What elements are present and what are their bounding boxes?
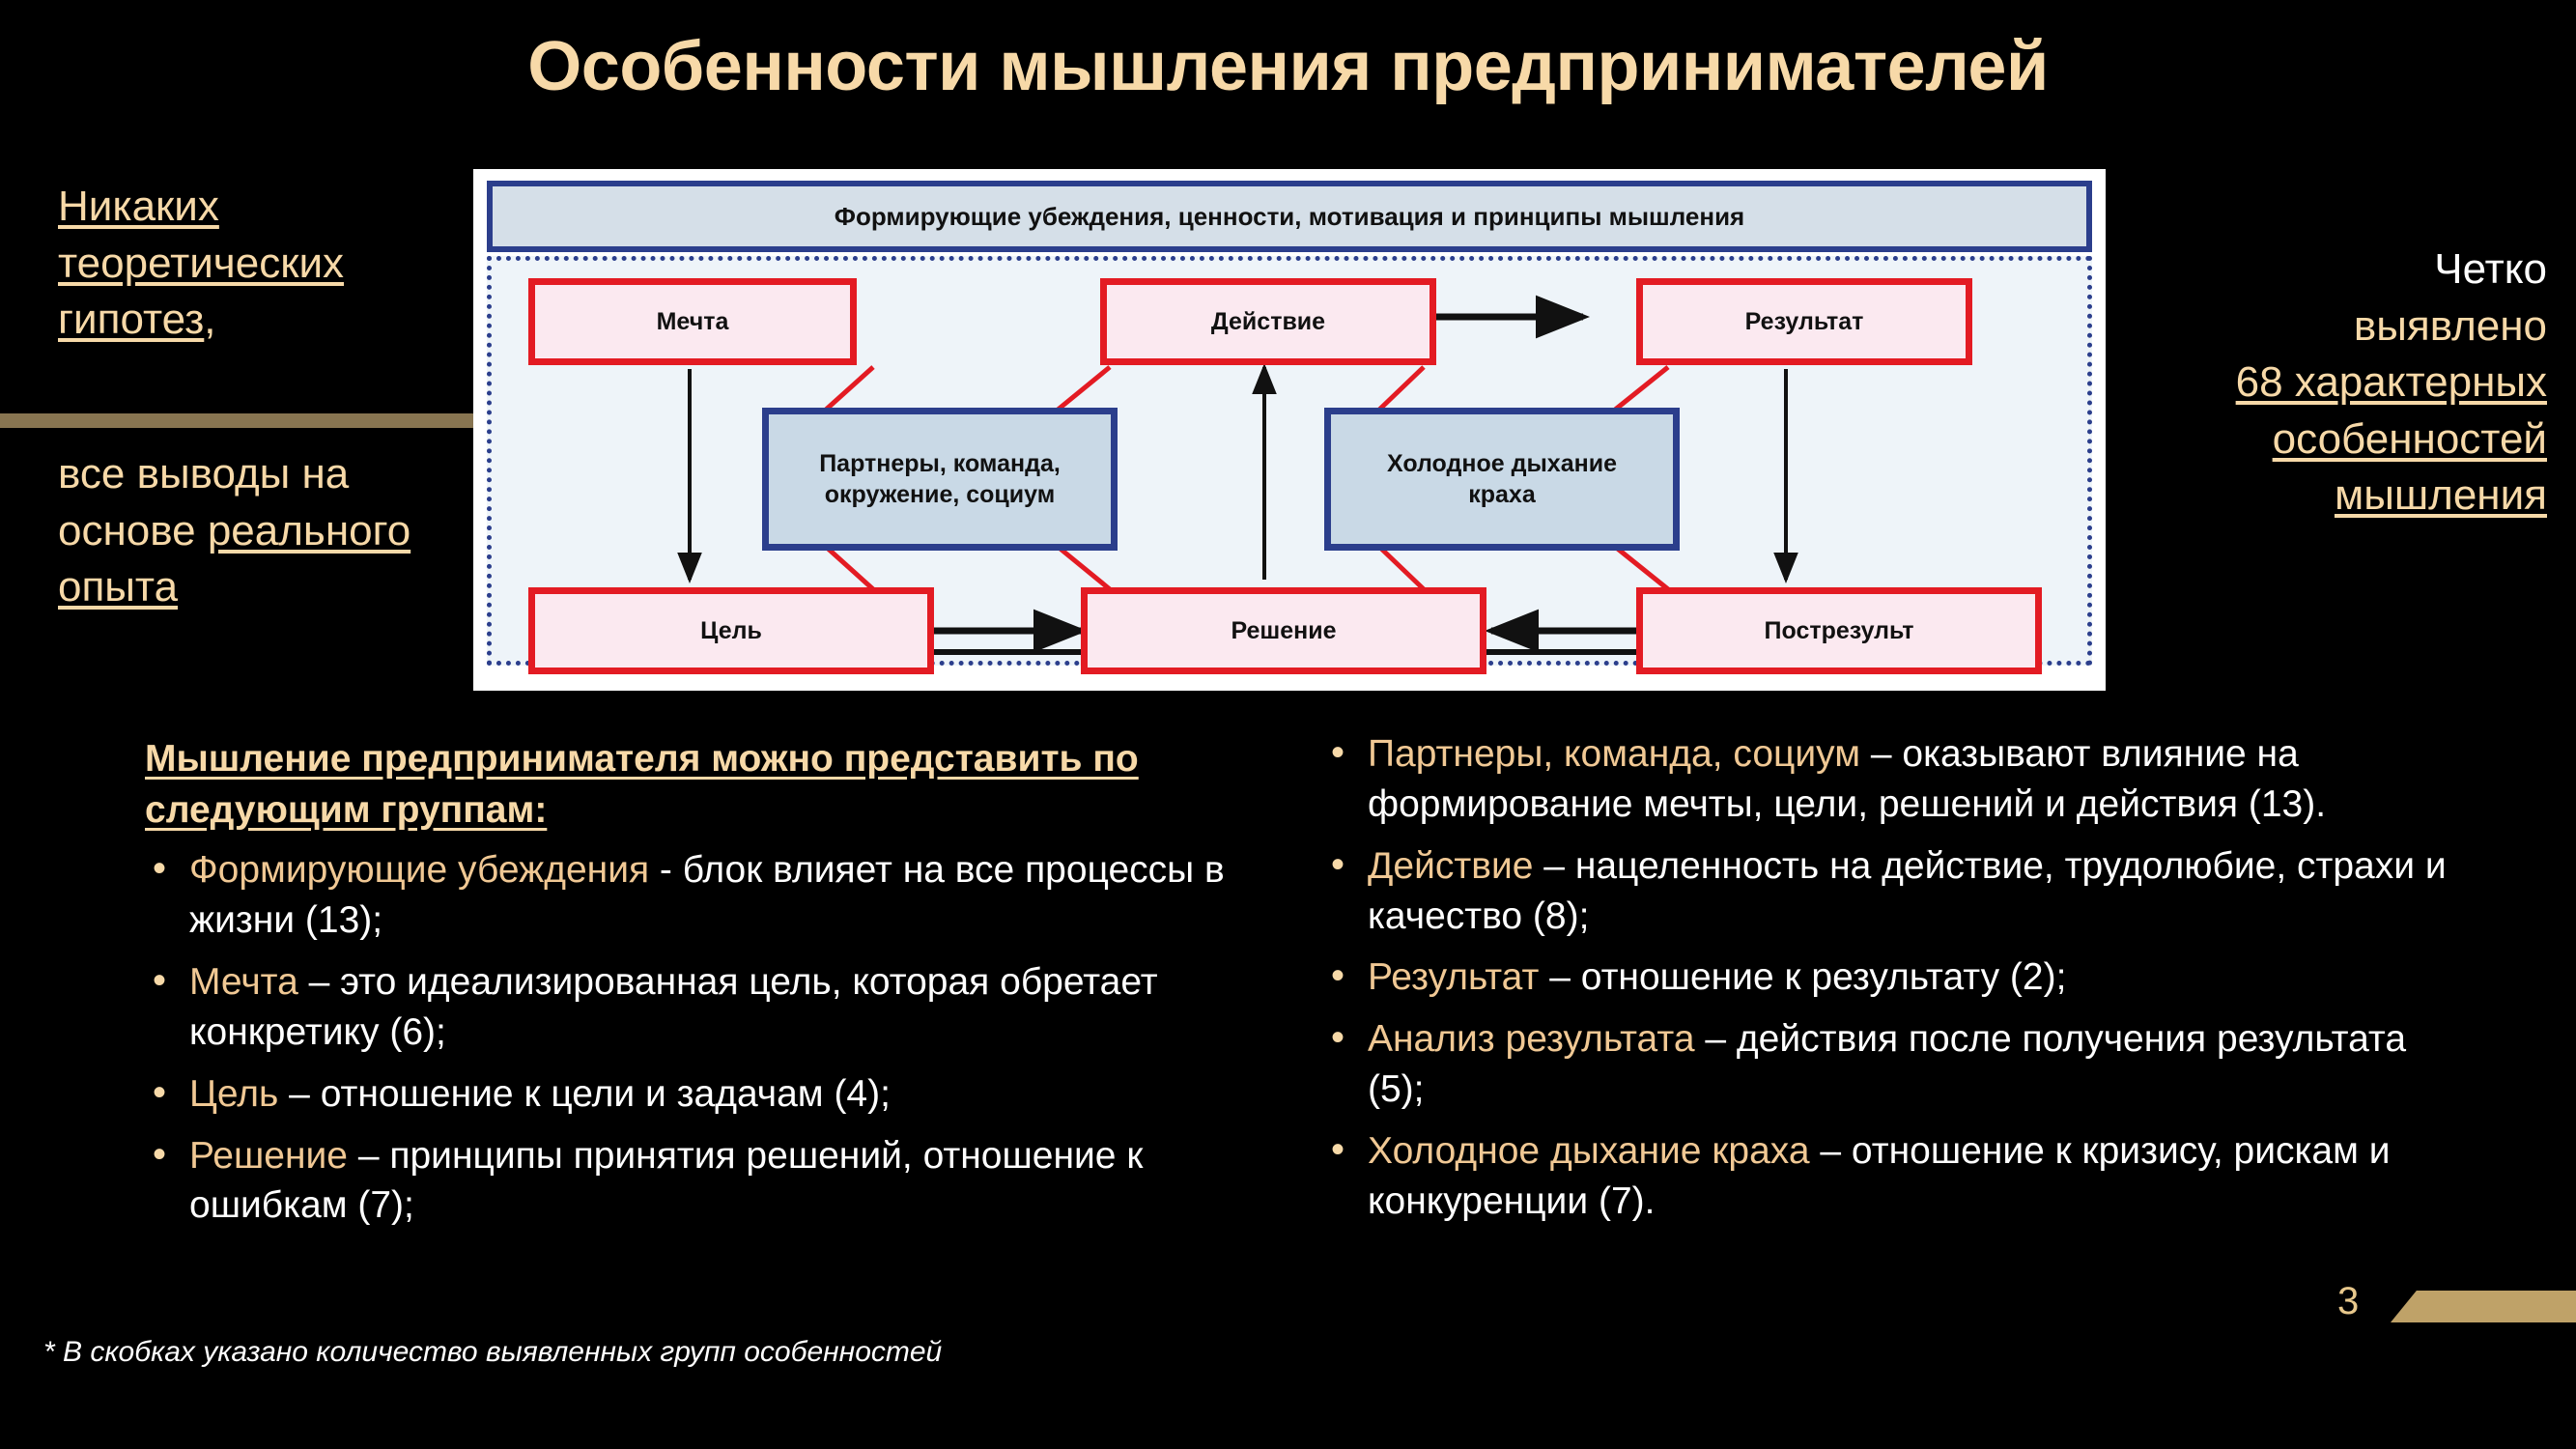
process-diagram-panel: Формирующие убеждения, ценности, мотивац… [473,169,2106,691]
node-postrezult[interactable]: Пострезульт [1636,587,2042,674]
bullet-term: Мечта [189,961,298,1003]
bullet-term: Холодное дыхание краха [1368,1130,1810,1172]
list-item: Формирующие убеждения - блок влияет на в… [145,845,1236,946]
bullets-left-column: Мышление предпринимателя можно представи… [145,734,1236,1242]
node-mechta[interactable]: Мечта [528,278,857,365]
list-item: Холодное дыхание краха – отношение к кри… [1323,1126,2463,1227]
list-item: Результат – отношение к результату (2); [1323,952,2463,1003]
bullets-right-list: Партнеры, команда, социум – оказывают вл… [1323,729,2463,1227]
right-caption-line3: 68 характерных особенностей мышления [2236,358,2547,519]
bullets-left-heading: Мышление предпринимателя можно представи… [145,734,1236,836]
page-title: Особенности мышления предпринимателей [0,27,2576,106]
olive-divider-bar [0,413,475,428]
diagram-header-label: Формирующие убеждения, ценности, мотивац… [835,202,1744,232]
left-caption-bottom: все выводы на основе реального опыта [58,446,464,616]
left-caption-top: Никаких теоретических гипотез, [58,179,464,349]
list-item: Партнеры, команда, социум – оказывают вл… [1323,729,2463,830]
right-caption: Четко выявлено 68 характерных особенност… [2132,241,2547,525]
node-deystvie[interactable]: Действие [1100,278,1436,365]
bullet-term: Формирующие убеждения [189,849,649,891]
page-number: 3 [2337,1280,2359,1323]
bullet-term: Решение [189,1135,348,1177]
list-item: Мечта – это идеализированная цель, котор… [145,957,1236,1058]
bullets-right-column: Партнеры, команда, социум – оказывают вл… [1323,729,2463,1238]
footnote: * В скобках указано количество выявленны… [43,1336,942,1369]
bullet-term: Действие [1368,845,1533,887]
node-reshenie[interactable]: Решение [1081,587,1486,674]
bullet-term: Партнеры, команда, социум [1368,733,1860,775]
right-caption-line1: Четко [2434,245,2547,293]
bullet-rest: – отношение к цели и задачам (4); [278,1073,891,1115]
bullet-term: Анализ результата [1368,1018,1695,1060]
node-rezultat-label: Результат [1745,306,1864,338]
bullet-rest: – это идеализированная цель, которая обр… [189,961,1158,1053]
node-postrezult-label: Пострезульт [1765,615,1914,647]
list-item: Решение – принципы принятия решений, отн… [145,1131,1236,1232]
node-rezultat[interactable]: Результат [1636,278,1972,365]
bullet-rest: – отношение к результату (2); [1539,956,2066,998]
node-partnery-label: Партнеры, команда, окружение, социум [819,448,1061,511]
list-item: Анализ результата – действия после получ… [1323,1014,2463,1115]
node-tsel-label: Цель [700,615,762,647]
list-item: Действие – нацеленность на действие, тру… [1323,841,2463,942]
right-caption-line2: выявлено [2354,302,2547,350]
node-kholodnoe-dyhanie-label: Холодное дыхание краха [1387,448,1617,511]
node-partnery[interactable]: Партнеры, команда, окружение, социум [762,408,1118,551]
bullets-left-list: Формирующие убеждения - блок влияет на в… [145,845,1236,1231]
node-deystvie-label: Действие [1211,306,1325,338]
diagram-header-box: Формирующие убеждения, ценности, мотивац… [487,181,2092,252]
page-banner-shape [2391,1291,2576,1322]
list-item: Цель – отношение к цели и задачам (4); [145,1069,1236,1120]
bullet-term: Результат [1368,956,1539,998]
bullet-term: Цель [189,1073,278,1115]
diagram-body: Мечта Действие Результат Партнеры, коман… [487,256,2092,666]
node-kholodnoe-dyhanie[interactable]: Холодное дыхание краха [1324,408,1680,551]
node-tsel[interactable]: Цель [528,587,934,674]
node-reshenie-label: Решение [1231,615,1336,647]
slide-root: Особенности мышления предпринимателей Ни… [0,0,2576,1449]
node-mechta-label: Мечта [657,306,729,338]
left-caption-underlined: Никаких теоретических гипотез [58,183,344,343]
left-caption-comma: , [204,296,215,343]
